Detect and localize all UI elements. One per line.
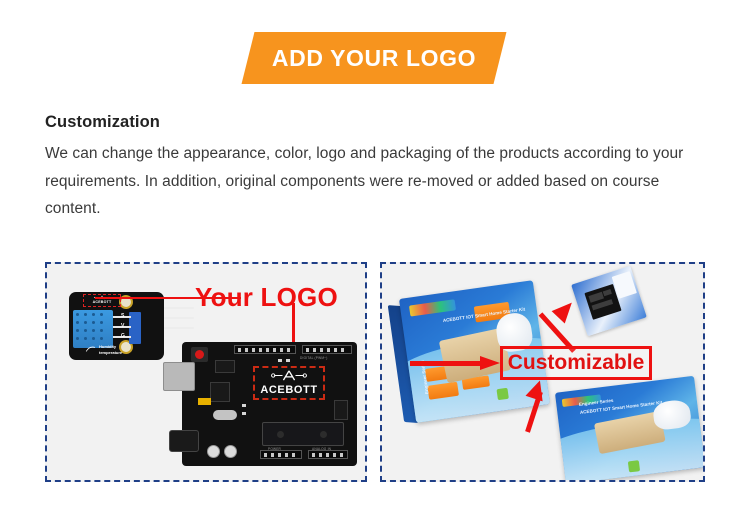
silk-power-label: POWER xyxy=(268,447,281,451)
capacitor-2 xyxy=(224,445,237,458)
banner-section: ADD YOUR LOGO xyxy=(0,32,750,84)
sensor-footer-line2: temperature xyxy=(99,350,122,355)
section-heading: Customization xyxy=(45,113,705,132)
atmega-mcu xyxy=(262,422,344,446)
digital-header-left xyxy=(234,345,296,354)
power-header xyxy=(260,450,302,459)
reset-button xyxy=(191,347,208,362)
sensor-small-icon xyxy=(85,345,97,353)
customizable-annotation: Customizable xyxy=(500,346,652,380)
icsp-header-top xyxy=(215,360,235,373)
right-image-panel: ACEBOTT IOT Smart Home Starter Kit Engin… xyxy=(380,262,705,482)
dht-sensor-module: ACEBOTT S V G Humidity temperature xyxy=(69,292,164,360)
arrow-pointing-up xyxy=(522,380,562,432)
sensor-brand-text: ACEBOTT xyxy=(84,300,120,304)
right-panel-content: ACEBOTT IOT Smart Home Starter Kit Engin… xyxy=(382,264,703,480)
text-section: Customization We can change the appearan… xyxy=(45,113,705,223)
pin-label-v: V xyxy=(121,323,124,329)
pin-label-g: G xyxy=(121,333,125,339)
icsp-header-right xyxy=(334,400,348,420)
pin-label-s: S xyxy=(121,313,124,319)
usb-port xyxy=(163,362,195,391)
sensor-footer-line1: Humidity xyxy=(99,344,116,349)
your-logo-annotation: Your LOGO xyxy=(195,282,338,313)
digital-header-right xyxy=(302,345,352,354)
arrow-pointing-right xyxy=(410,356,504,370)
analog-header xyxy=(308,450,348,459)
page-root: ADD YOUR LOGO Customization We can chang… xyxy=(0,0,750,518)
sensor-wires xyxy=(164,307,194,333)
banner-title: ADD YOUR LOGO xyxy=(248,32,500,84)
capacitor-1 xyxy=(207,445,220,458)
arduino-uno-board: ACEBOTT DIGITAL (PWM~) POWER ANALOG IN xyxy=(182,342,357,466)
product-box-small: ACEBOTT IOT Smart Home Starter Kit Engin… xyxy=(555,376,703,480)
silk-digital-label: DIGITAL (PWM~) xyxy=(300,356,328,360)
crystal-oscillator xyxy=(213,410,237,420)
left-image-panel: ACEBOTT S V G Humidity temperature Your … xyxy=(45,262,367,482)
fuse xyxy=(198,398,211,405)
acebott-logo-icon xyxy=(270,369,308,382)
voltage-regulator-chip xyxy=(210,382,230,402)
board-brand-text: ACEBOTT xyxy=(253,384,325,396)
dht-grille xyxy=(76,313,110,341)
box-small-cert-badge xyxy=(628,460,640,472)
power-jack xyxy=(169,430,199,452)
section-paragraph: We can change the appearance, color, log… xyxy=(45,140,700,223)
box-cert-badge xyxy=(496,387,508,399)
silk-analog-label: ANALOG IN xyxy=(312,447,331,451)
product-box-small-face: ACEBOTT IOT Smart Home Starter Kit Engin… xyxy=(555,376,703,480)
left-panel-content: ACEBOTT S V G Humidity temperature Your … xyxy=(47,264,365,480)
box-brand-strip xyxy=(409,299,456,317)
